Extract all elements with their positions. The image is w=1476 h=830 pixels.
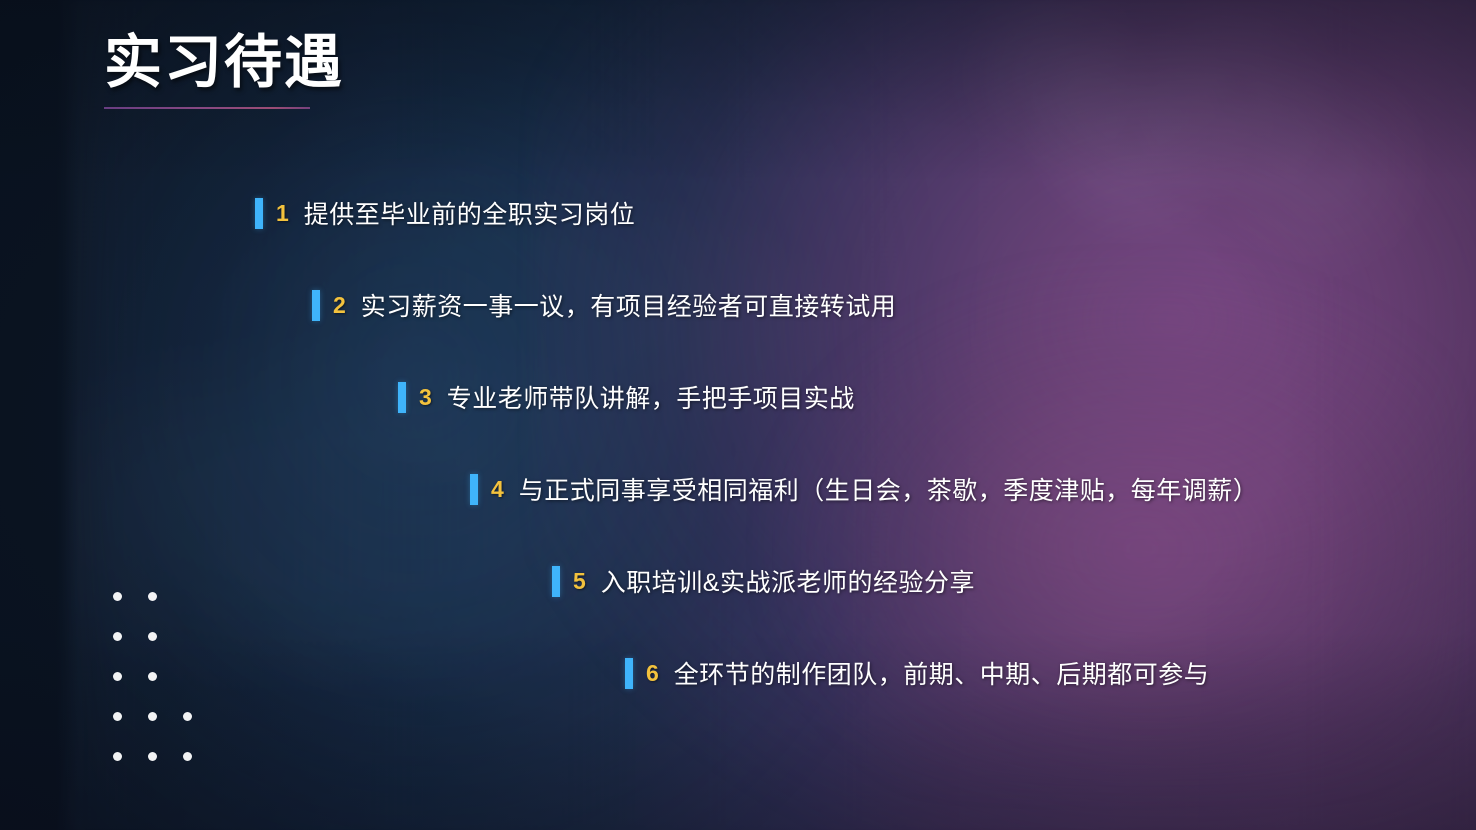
benefits-list: 1提供至毕业前的全职实习岗位2实习薪资一事一议，有项目经验者可直接转试用3专业老…: [0, 190, 1476, 742]
dot-icon: [148, 672, 157, 681]
dot-icon: [113, 712, 122, 721]
dot-grid-row: [113, 748, 218, 788]
list-item-number: 2: [333, 294, 346, 317]
list-item: 2实习薪资一事一议，有项目经验者可直接转试用: [0, 282, 1476, 328]
list-item-number: 3: [419, 386, 432, 409]
list-item: 6全环节的制作团队，前期、中期、后期都可参与: [0, 650, 1476, 696]
list-item-number: 1: [276, 202, 289, 225]
dot-grid-decoration: [113, 588, 218, 788]
page-title-text: 实习待遇: [104, 32, 344, 95]
bullet-bar-icon: [552, 566, 560, 597]
list-item-label: 全环节的制作团队，前期、中期、后期都可参与: [674, 655, 1210, 691]
dot-icon: [113, 592, 122, 601]
dot-grid-row: [113, 628, 218, 668]
bullet-bar-icon: [255, 198, 263, 229]
bullet-bar-icon: [625, 658, 633, 689]
list-item-label: 提供至毕业前的全职实习岗位: [304, 195, 636, 231]
list-item-number: 5: [573, 570, 586, 593]
list-item-label: 实习薪资一事一议，有项目经验者可直接转试用: [361, 287, 897, 323]
list-item: 4与正式同事享受相同福利（生日会，茶歇，季度津贴，每年调薪）: [0, 466, 1476, 512]
dot-grid-row: [113, 708, 218, 748]
list-item: 1提供至毕业前的全职实习岗位: [0, 190, 1476, 236]
list-item-label: 与正式同事享受相同福利（生日会，茶歇，季度津贴，每年调薪）: [519, 471, 1259, 507]
list-item-label: 专业老师带队讲解，手把手项目实战: [447, 379, 855, 415]
dot-icon: [183, 752, 192, 761]
dot-icon: [148, 712, 157, 721]
dot-icon: [113, 672, 122, 681]
dot-icon: [148, 752, 157, 761]
dot-icon: [113, 752, 122, 761]
dot-icon: [148, 632, 157, 641]
list-item-number: 6: [646, 662, 659, 685]
dot-grid-row: [113, 668, 218, 708]
bullet-bar-icon: [398, 382, 406, 413]
bullet-bar-icon: [312, 290, 320, 321]
list-item: 5入职培训&实战派老师的经验分享: [0, 558, 1476, 604]
dot-icon: [183, 712, 192, 721]
page-title: 实习待遇: [104, 32, 344, 109]
list-item-label: 入职培训&实战派老师的经验分享: [601, 563, 975, 599]
dot-grid-row: [113, 588, 218, 628]
slide-canvas: 实习待遇 1提供至毕业前的全职实习岗位2实习薪资一事一议，有项目经验者可直接转试…: [0, 0, 1476, 830]
title-underline: [104, 107, 310, 109]
dot-icon: [113, 632, 122, 641]
list-item-number: 4: [491, 478, 504, 501]
bullet-bar-icon: [470, 474, 478, 505]
dot-icon: [148, 592, 157, 601]
list-item: 3专业老师带队讲解，手把手项目实战: [0, 374, 1476, 420]
